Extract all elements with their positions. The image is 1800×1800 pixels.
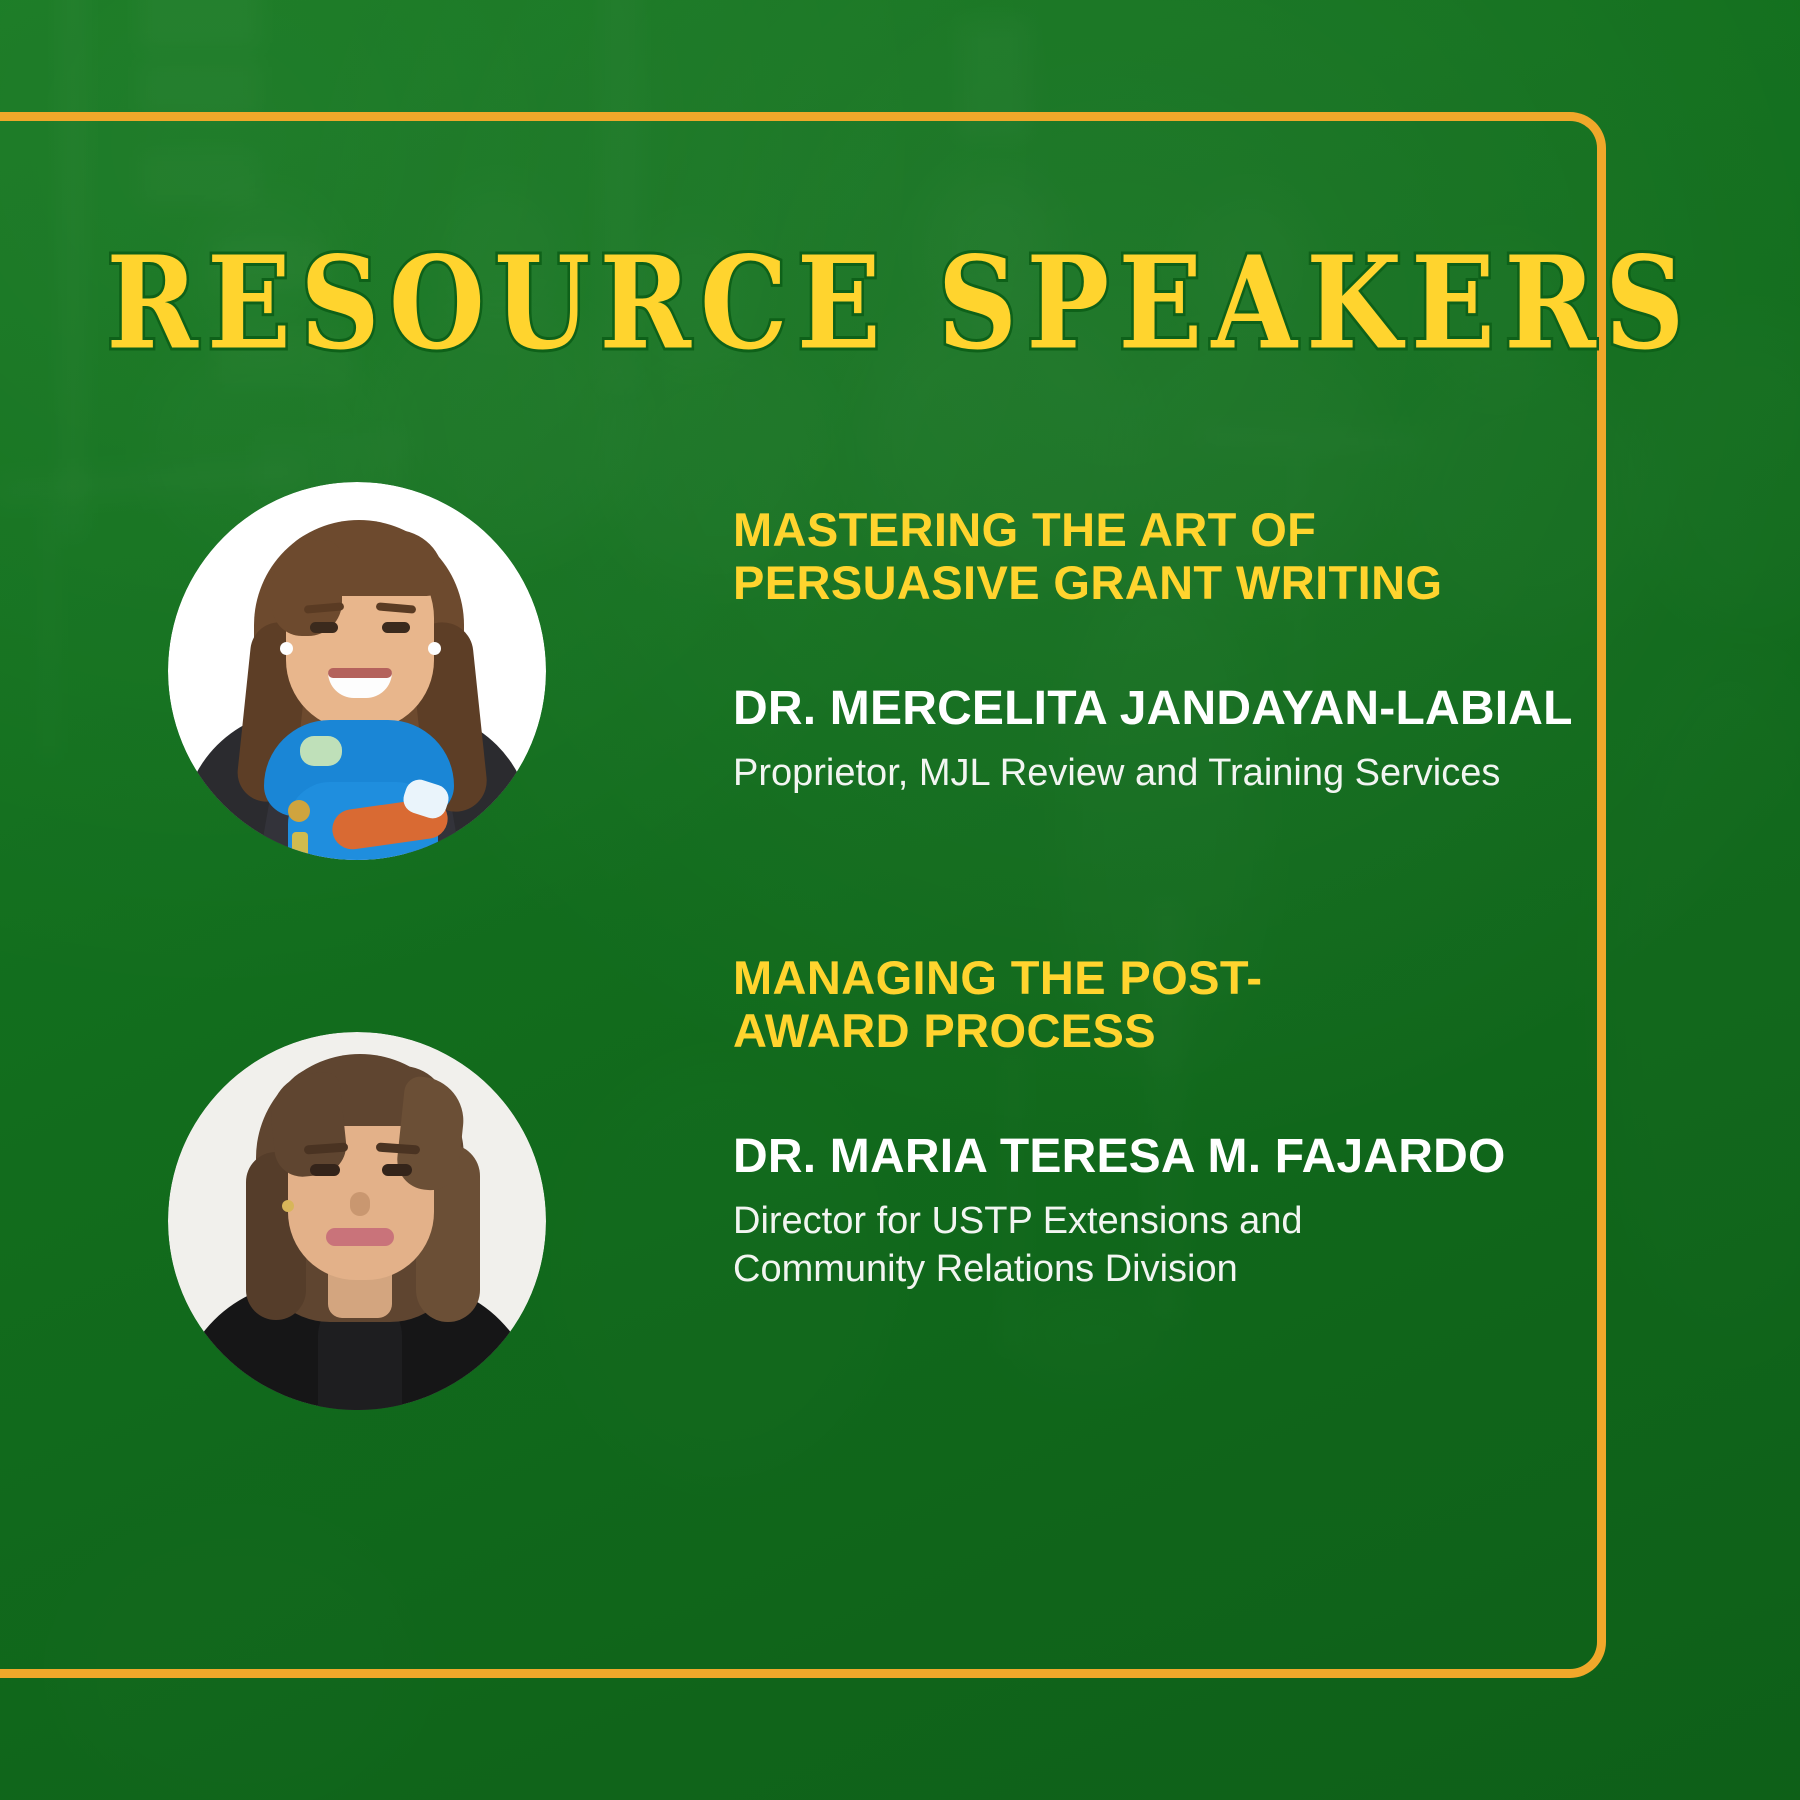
- speaker-2-role: Director for USTP Extensions and Communi…: [733, 1198, 1506, 1293]
- speaker-2-name: DR. MARIA TERESA M. FAJARDO: [733, 1131, 1506, 1184]
- speaker-2-topic: MANAGING THE POST- AWARD PROCESS: [733, 952, 1506, 1057]
- avatar: [168, 1032, 546, 1410]
- speaker-card-2: MANAGING THE POST- AWARD PROCESS DR. MAR…: [168, 930, 1506, 1410]
- speaker-card-1: MASTERING THE ART OF PERSUASIVE GRANT WR…: [168, 482, 1573, 860]
- speaker-1-text: MASTERING THE ART OF PERSUASIVE GRANT WR…: [546, 482, 1573, 798]
- speaker-2-text: MANAGING THE POST- AWARD PROCESS DR. MAR…: [546, 930, 1506, 1293]
- avatar: [168, 482, 546, 860]
- page-title: RESOURCE SPEAKERS: [0, 240, 1800, 367]
- speaker-1-role: Proprietor, MJL Review and Training Serv…: [733, 750, 1573, 798]
- resource-speakers-poster: RESOURCE SPEAKERS: [0, 0, 1800, 1800]
- speaker-1-name: DR. MERCELITA JANDAYAN-LABIAL: [733, 683, 1573, 736]
- speaker-1-topic: MASTERING THE ART OF PERSUASIVE GRANT WR…: [733, 504, 1573, 609]
